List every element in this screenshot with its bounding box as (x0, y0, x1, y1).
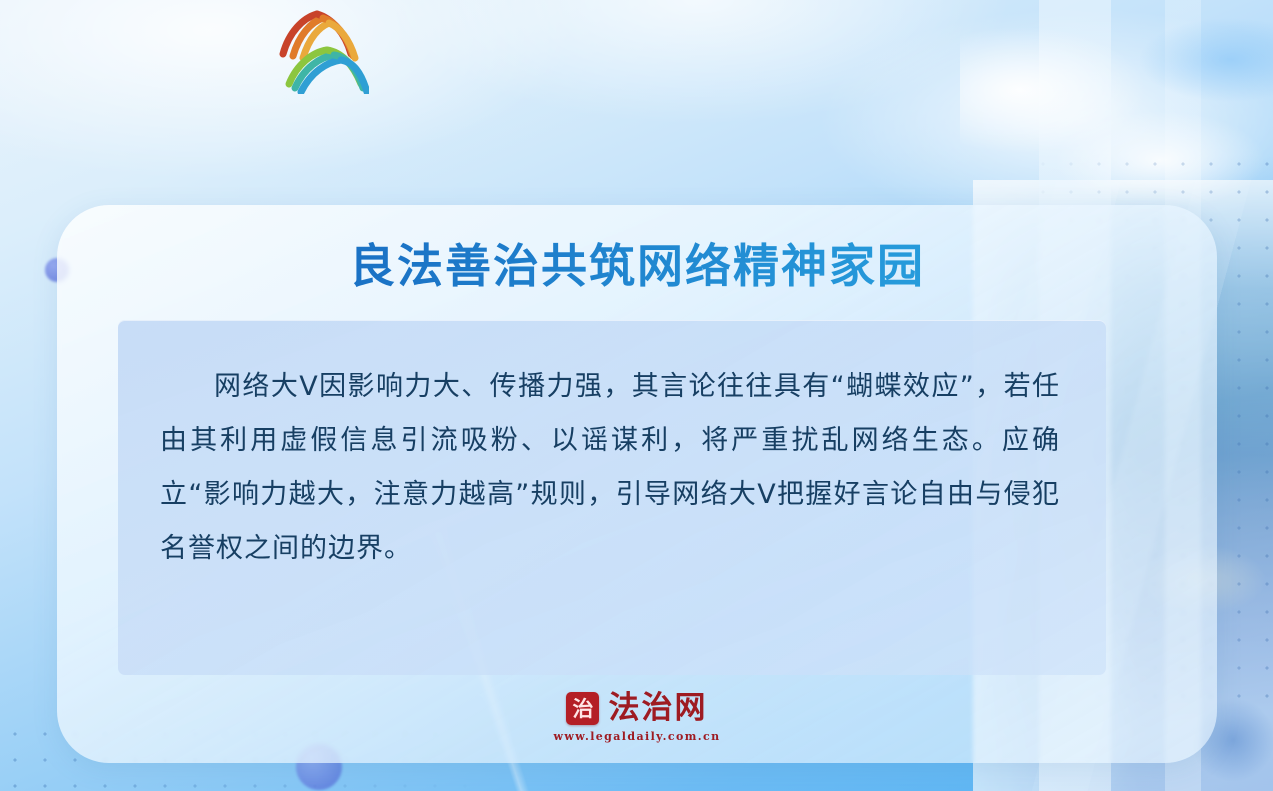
pagoda-arcs-logo-icon (273, 10, 369, 94)
seal-glyph: 治 (572, 698, 593, 719)
quote-body: 网络大V因影响力大、传播力强，其言论往往具有“蝴蝶效应”，若任由其利用虚假信息引… (160, 360, 1060, 576)
content-card: 良法善治共筑网络精神家园 网络大V因影响力大、传播力强，其言论往往具有“蝴蝶效应… (57, 205, 1217, 763)
header-title-row: 2025年中国网络文明大会 (0, 14, 1273, 94)
poster-canvas: 2025年中国网络文明大会 网络法治分论坛 良法善治共筑网络精神家园 网络大V因… (0, 0, 1273, 791)
quote-paragraph: 网络大V因影响力大、传播力强，其言论往往具有“蝴蝶效应”，若任由其利用虚假信息引… (160, 360, 1060, 576)
card-headline: 良法善治共筑网络精神家园 (57, 241, 1217, 292)
footer-logo-group: 治 法治网 www.legaldaily.com.cn (553, 692, 720, 743)
brand-name: 法治网 (608, 693, 707, 724)
brand-url: www.legaldaily.com.cn (553, 730, 720, 743)
footer-branding: 治 法治网 www.legaldaily.com.cn (57, 692, 1217, 743)
forum-subtitle: 网络法治分论坛 (0, 102, 1273, 146)
quote-panel: 网络大V因影响力大、传播力强，其言论往往具有“蝴蝶效应”，若任由其利用虚假信息引… (118, 320, 1106, 675)
footer-logo-row: 治 法治网 (566, 692, 707, 725)
conference-title: 2025年中国网络文明大会 (383, 30, 999, 79)
red-square-seal-icon: 治 (566, 692, 599, 725)
poster-header: 2025年中国网络文明大会 网络法治分论坛 (0, 14, 1273, 146)
